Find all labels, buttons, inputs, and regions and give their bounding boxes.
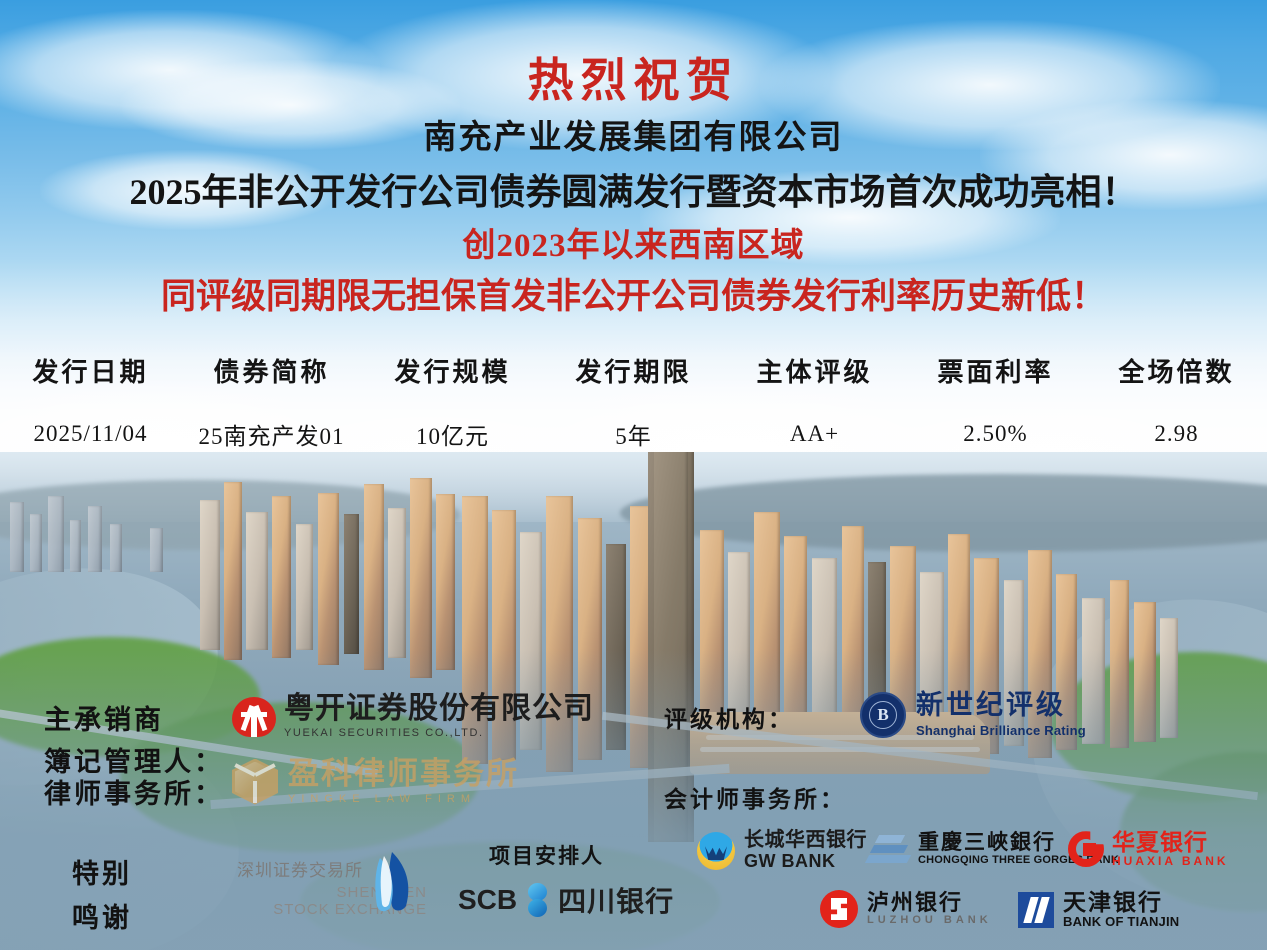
far-building xyxy=(88,506,102,572)
company-name: 南充产业发展集团有限公司 xyxy=(0,110,1267,158)
table-row: 2025/11/04 25南充产发01 10亿元 5年 AA+ 2.50% 2.… xyxy=(0,417,1267,451)
col-header-subscription-multiple: 全场倍数 xyxy=(1086,348,1267,417)
bank-of-tianjin-logo: 天津银行 BANK OF TIANJIN xyxy=(1018,890,1179,930)
building xyxy=(364,484,384,670)
yuekai-mark-icon xyxy=(232,695,276,739)
luzhou-bank-name-cn: 泸州银行 xyxy=(867,891,992,914)
gw-bank-name-en: GW BANK xyxy=(744,851,867,873)
yuekai-name-en: YUEKAI SECURITIES CO.,LTD. xyxy=(284,727,594,739)
yingke-name-en: YINGKE LAW FIRM xyxy=(288,793,519,805)
congratulations-title: 热烈祝贺 xyxy=(0,44,1267,110)
building xyxy=(224,482,242,660)
huaxia-bank-name-cn: 华夏银行 xyxy=(1112,830,1229,854)
project-arranger-label: 项目安排人 xyxy=(489,840,604,870)
accounting-firm-label: 会计师事务所： xyxy=(664,780,846,814)
far-building xyxy=(150,528,163,572)
building xyxy=(410,478,432,678)
shenzhen-stock-exchange-logo: 深圳证券交易所 SHENZHEN STOCK EXCHANGE xyxy=(237,856,427,918)
tianjin-bank-name-cn: 天津银行 xyxy=(1063,890,1179,914)
cell-issue-size: 10亿元 xyxy=(362,417,543,451)
cell-tenor: 5年 xyxy=(543,417,724,451)
luzhou-bank-logo: 泸州银行 LUZHOU BANK xyxy=(820,890,992,928)
far-building xyxy=(110,524,122,572)
szse-sail-icon xyxy=(362,850,414,914)
special-thanks-line1: 特别 xyxy=(72,852,132,896)
law-firm-label: 律师事务所： xyxy=(44,772,224,811)
col-header-issue-date: 发行日期 xyxy=(0,348,181,417)
cq-bank-mark-icon xyxy=(867,835,911,865)
scb-abbrev: SCB xyxy=(458,884,517,916)
subtitle-line-3: 同评级同期限无担保首发非公开公司债券发行利率历史新低！ xyxy=(0,268,1267,319)
gw-bank-mark-icon xyxy=(697,832,735,870)
building xyxy=(246,512,268,650)
huaxia-bank-logo: 华夏银行 HUAXIA BANK xyxy=(1068,830,1229,869)
yingke-name-cn: 盈科律师事务所 xyxy=(288,758,519,789)
building xyxy=(344,514,359,654)
far-building xyxy=(30,514,42,572)
far-building xyxy=(10,502,24,572)
building xyxy=(296,524,313,650)
scb-name-cn: 四川银行 xyxy=(558,880,674,920)
special-thanks-line2: 鸣谢 xyxy=(72,896,132,940)
col-header-bond-name: 债券简称 xyxy=(181,348,362,417)
brilliance-name-cn: 新世纪评级 xyxy=(916,692,1086,719)
building xyxy=(272,496,291,658)
luzhou-bank-name-en: LUZHOU BANK xyxy=(867,914,992,927)
special-thanks-label: 特别 鸣谢 xyxy=(72,852,132,940)
cell-issue-date: 2025/11/04 xyxy=(0,417,181,451)
yuekai-securities-logo: 粤开证券股份有限公司 YUEKAI SECURITIES CO.,LTD. xyxy=(232,694,594,739)
sichuan-bank-logo: SCB 四川银行 xyxy=(458,880,674,920)
building xyxy=(388,508,406,658)
brilliance-name-en: Shanghai Brilliance Rating xyxy=(916,723,1086,738)
brilliance-monogram: B xyxy=(862,705,904,725)
building xyxy=(200,500,220,650)
cell-issuer-rating: AA+ xyxy=(724,417,905,451)
col-header-coupon-rate: 票面利率 xyxy=(905,348,1086,417)
col-header-issue-size: 发行规模 xyxy=(362,348,543,417)
building xyxy=(318,493,339,665)
gw-bank-name-cn: 长城华西银行 xyxy=(744,830,867,851)
huaxia-bank-mark-icon xyxy=(1068,831,1104,867)
tianjin-bank-mark-icon xyxy=(1018,892,1054,928)
building xyxy=(436,494,455,670)
table-header-row: 发行日期 债券简称 发行规模 发行期限 主体评级 票面利率 全场倍数 xyxy=(0,348,1267,417)
tianjin-bank-name-en: BANK OF TIANJIN xyxy=(1063,914,1179,930)
bond-details-table: 发行日期 债券简称 发行规模 发行期限 主体评级 票面利率 全场倍数 2025/… xyxy=(0,348,1267,451)
col-header-issuer-rating: 主体评级 xyxy=(724,348,905,417)
cell-coupon-rate: 2.50% xyxy=(905,417,1086,451)
celebration-poster: 热烈祝贺 南充产业发展集团有限公司 2025年非公开发行公司债券圆满发行暨资本市… xyxy=(0,0,1267,950)
yingke-cube-icon xyxy=(232,759,278,805)
cell-subscription-multiple: 2.98 xyxy=(1086,417,1267,451)
cell-bond-name: 25南充产发01 xyxy=(181,417,362,451)
lead-underwriter-label-line1: 主承销商 xyxy=(44,698,164,737)
huaxia-bank-name-en: HUAXIA BANK xyxy=(1112,854,1229,868)
yingke-law-firm-logo: 盈科律师事务所 YINGKE LAW FIRM xyxy=(232,758,519,805)
luzhou-bank-mark-icon xyxy=(820,890,858,928)
shanghai-brilliance-rating-logo: B 新世纪评级 Shanghai Brilliance Rating xyxy=(860,692,1086,738)
far-building xyxy=(70,520,81,572)
great-wall-west-china-bank-logo: 长城华西银行 GW BANK xyxy=(697,830,867,873)
rating-agency-label: 评级机构： xyxy=(664,700,794,734)
far-building xyxy=(48,496,64,572)
subtitle-line-2: 创2023年以来西南区域 xyxy=(0,218,1267,266)
yuekai-name-cn: 粤开证券股份有限公司 xyxy=(284,694,594,724)
col-header-tenor: 发行期限 xyxy=(543,348,724,417)
subtitle-line-1: 2025年非公开发行公司债券圆满发行暨资本市场首次成功亮相！ xyxy=(0,163,1267,215)
scb-droplet-icon xyxy=(524,883,551,917)
brilliance-seal-icon: B xyxy=(860,692,906,738)
